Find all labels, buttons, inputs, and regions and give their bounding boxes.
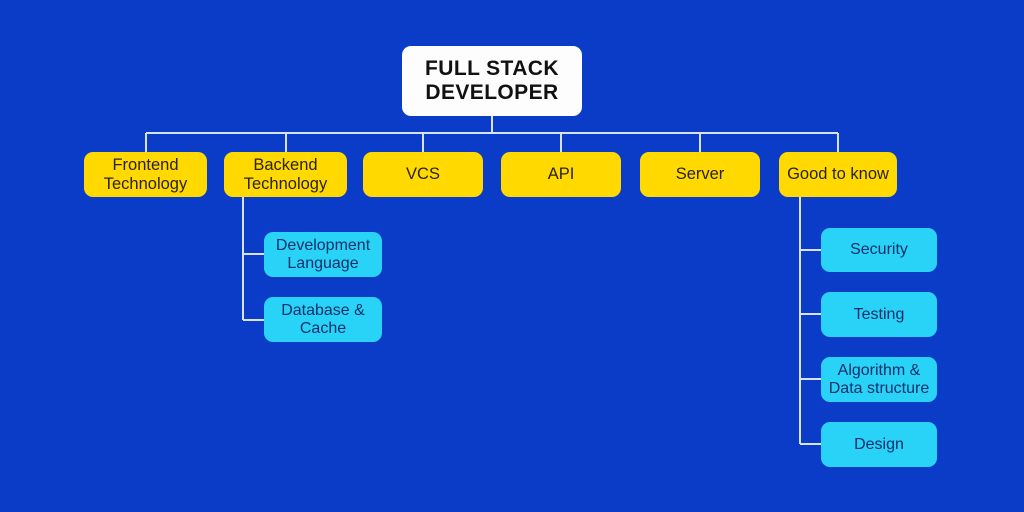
node-design[interactable]: Design bbox=[821, 422, 937, 467]
node-label: Development Language bbox=[270, 237, 376, 273]
node-development-language[interactable]: Development Language bbox=[264, 232, 382, 277]
node-label: Server bbox=[670, 165, 731, 183]
node-label: API bbox=[542, 165, 581, 183]
node-algorithm-data-structure[interactable]: Algorithm & Data structure bbox=[821, 357, 937, 402]
node-vcs[interactable]: VCS bbox=[363, 152, 483, 197]
node-label: Algorithm & Data structure bbox=[823, 362, 935, 398]
node-label: VCS bbox=[400, 165, 446, 183]
node-frontend-technology[interactable]: Frontend Technology bbox=[84, 152, 207, 197]
node-label: Good to know bbox=[781, 165, 895, 183]
node-full-stack-developer[interactable]: FULL STACK DEVELOPER bbox=[402, 46, 582, 116]
node-security[interactable]: Security bbox=[821, 228, 937, 272]
node-backend-technology[interactable]: Backend Technology bbox=[224, 152, 347, 197]
node-label: Security bbox=[844, 241, 914, 259]
node-api[interactable]: API bbox=[501, 152, 621, 197]
node-server[interactable]: Server bbox=[640, 152, 760, 197]
node-label: Design bbox=[848, 436, 910, 454]
node-label: Frontend Technology bbox=[98, 156, 193, 193]
node-label: Backend Technology bbox=[238, 156, 333, 193]
node-label: FULL STACK DEVELOPER bbox=[419, 57, 565, 104]
full-stack-developer-diagram: FULL STACK DEVELOPER Frontend Technology… bbox=[0, 0, 1024, 512]
node-testing[interactable]: Testing bbox=[821, 292, 937, 337]
node-database-and-cache[interactable]: Database & Cache bbox=[264, 297, 382, 342]
node-good-to-know[interactable]: Good to know bbox=[779, 152, 897, 197]
node-label: Database & Cache bbox=[275, 302, 371, 338]
node-label: Testing bbox=[848, 306, 911, 324]
